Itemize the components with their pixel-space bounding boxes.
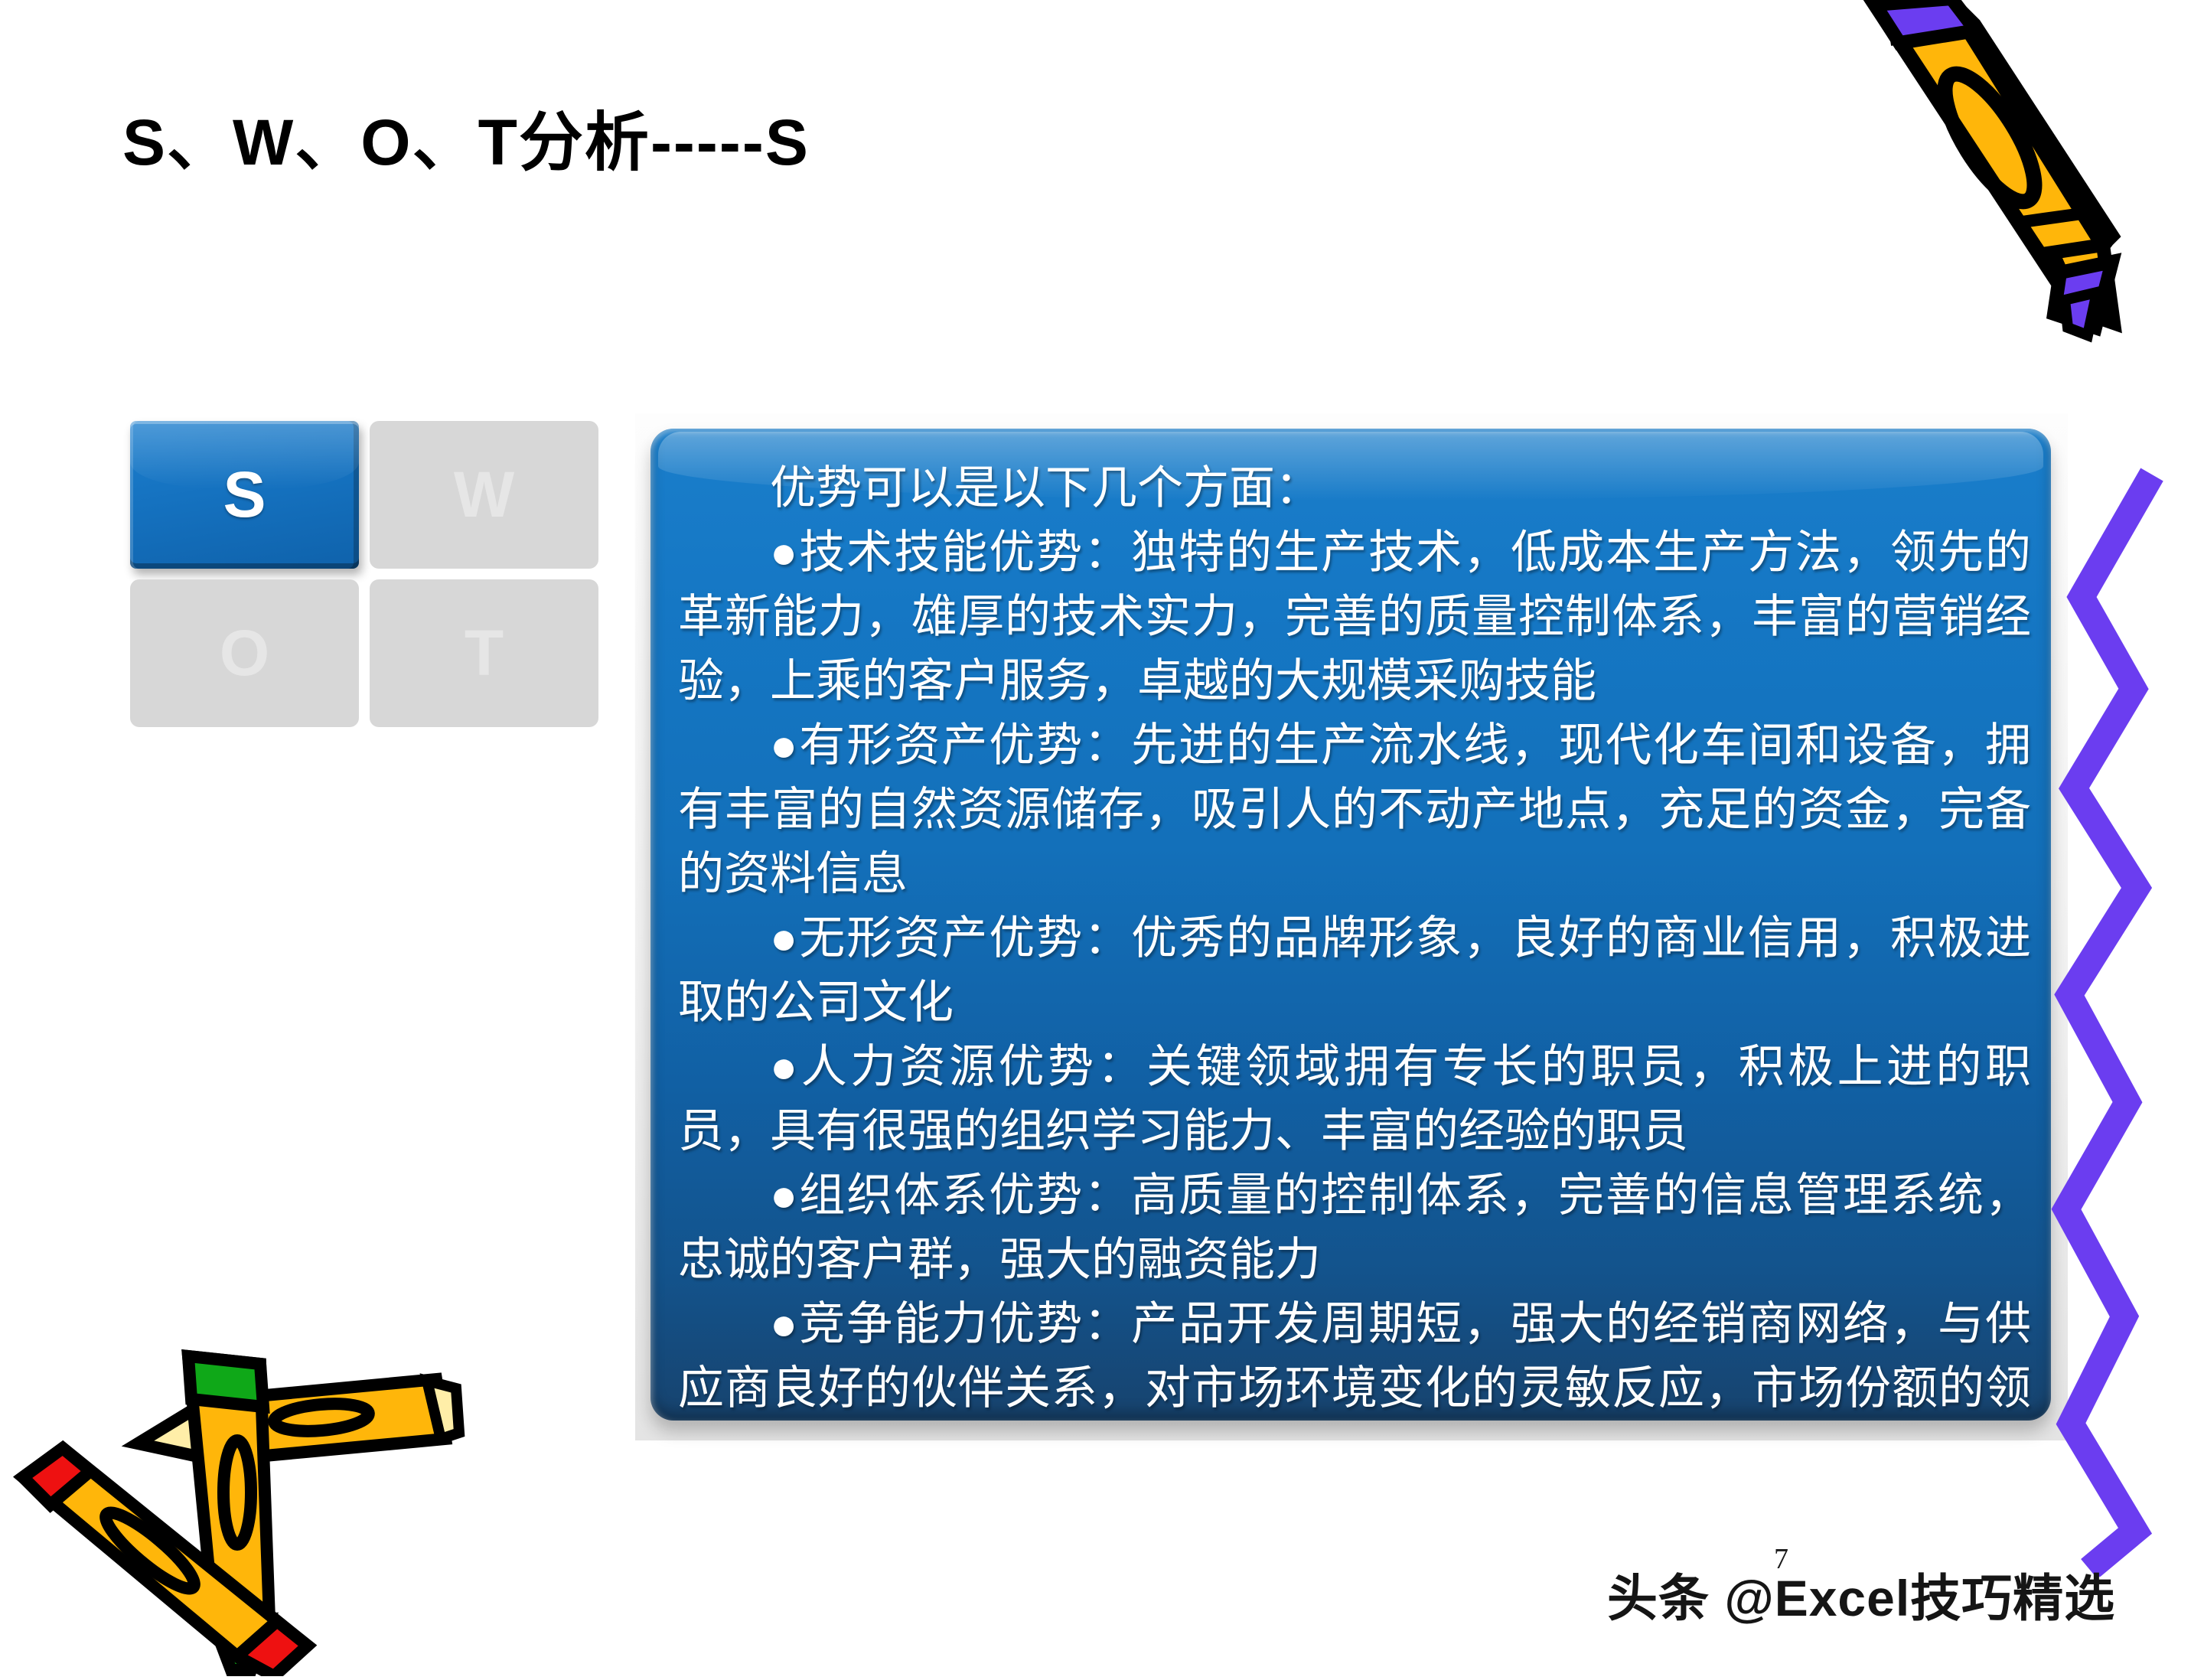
- swot-tile-letter: O: [220, 616, 269, 690]
- content-panel: 优势可以是以下几个方面： ●技术技能优势：独特的生产技术，低成本生产方法，领先的…: [650, 429, 2051, 1421]
- page-title: S、W、O、T分析-----S: [122, 107, 810, 178]
- panel-bullet: ●组织体系优势：高质量的控制体系，完善的信息管理系统，忠诚的客户群，强大的融资能…: [678, 1163, 2031, 1292]
- swot-tile-strengths[interactable]: S: [130, 421, 359, 569]
- swot-tile-letter: T: [465, 616, 504, 690]
- swot-tile-weaknesses[interactable]: W: [370, 421, 598, 569]
- panel-bullet: ●竞争能力优势：产品开发周期短，强大的经销商网络，与供应商良好的伙伴关系，对市场…: [678, 1292, 2031, 1421]
- panel-intro-line: 优势可以是以下几个方面：: [678, 456, 2031, 520]
- panel-bullet: ●无形资产优势：优秀的品牌形象，良好的商业信用，积极进取的公司文化: [678, 906, 2031, 1035]
- panel-bullet: ●人力资源优势：关键领域拥有专长的职员，积极上进的职员，具有很强的组织学习能力、…: [678, 1035, 2031, 1163]
- swot-grid: S W O T: [130, 421, 598, 727]
- swot-tile-opportunities[interactable]: O: [130, 579, 359, 727]
- panel-body-text: 优势可以是以下几个方面： ●技术技能优势：独特的生产技术，低成本生产方法，领先的…: [678, 456, 2031, 1421]
- swot-tile-letter: W: [454, 458, 514, 532]
- watermark-text: 头条 @Excel技巧精选: [1607, 1558, 2115, 1631]
- panel-bullet: ●有形资产优势：先进的生产流水线，现代化车间和设备，拥有丰富的自然资源储存，吸引…: [678, 713, 2031, 906]
- panel-bullet: ●技术技能优势：独特的生产技术，低成本生产方法，领先的革新能力，雄厚的技术实力，…: [678, 520, 2031, 713]
- crayon-bundle-icon: [8, 1316, 482, 1680]
- swot-tile-threats[interactable]: T: [370, 579, 598, 727]
- swot-tile-letter: S: [223, 458, 266, 532]
